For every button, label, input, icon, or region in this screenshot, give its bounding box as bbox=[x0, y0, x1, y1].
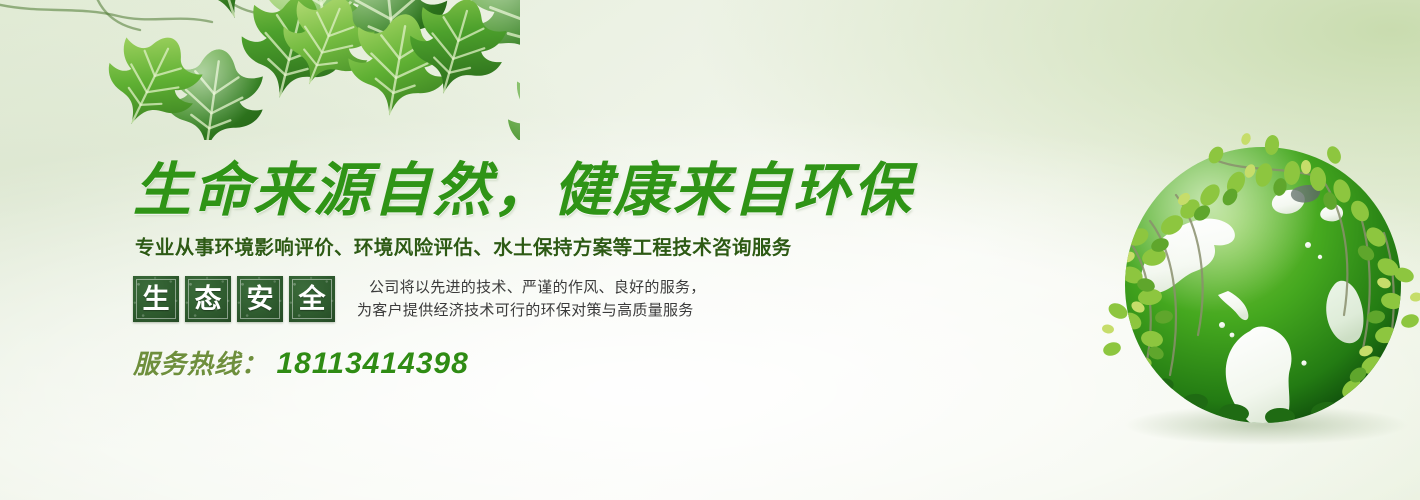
description-line-2: 为客户提供经济技术可行的环保对策与高质量服务 bbox=[357, 299, 706, 322]
seal-box-2: 态 bbox=[185, 276, 231, 322]
seals-and-description-row: 生 态 安 全 公司将以先进的技术、严谨的作风、良好的服务， 为客户提供经济技术… bbox=[133, 276, 893, 322]
seal-box-1: 生 bbox=[133, 276, 179, 322]
seal-char-4: 全 bbox=[299, 286, 326, 313]
headline: 生命来源自然，健康来自环保 bbox=[133, 160, 893, 222]
banner-text-block: 生命来源自然，健康来自环保 专业从事环境影响评价、环境风险评估、水土保持方案等工… bbox=[133, 160, 893, 381]
subtitle: 专业从事环境影响评价、环境风险评估、水土保持方案等工程技术咨询服务 bbox=[135, 236, 893, 260]
eco-banner: 生命来源自然，健康来自环保 专业从事环境影响评价、环境风险评估、水土保持方案等工… bbox=[0, 0, 1420, 500]
hotline-number[interactable]: 18113414398 bbox=[276, 347, 468, 380]
seal-box-4: 全 bbox=[289, 276, 335, 322]
seal-char-1: 生 bbox=[143, 286, 170, 313]
seal-group: 生 态 安 全 bbox=[133, 276, 335, 322]
description-paragraph: 公司将以先进的技术、严谨的作风、良好的服务， 为客户提供经济技术可行的环保对策与… bbox=[357, 276, 706, 322]
seal-char-3: 安 bbox=[247, 286, 274, 313]
ivy-leaves-decoration bbox=[0, 0, 520, 140]
description-line-1: 公司将以先进的技术、严谨的作风、良好的服务， bbox=[357, 276, 706, 299]
seal-char-2: 态 bbox=[195, 286, 222, 313]
green-globe-decoration bbox=[1098, 125, 1420, 455]
hotline: 服务热线： 18113414398 bbox=[133, 344, 893, 381]
seal-box-3: 安 bbox=[237, 276, 283, 322]
hotline-label: 服务热线： bbox=[133, 349, 268, 379]
